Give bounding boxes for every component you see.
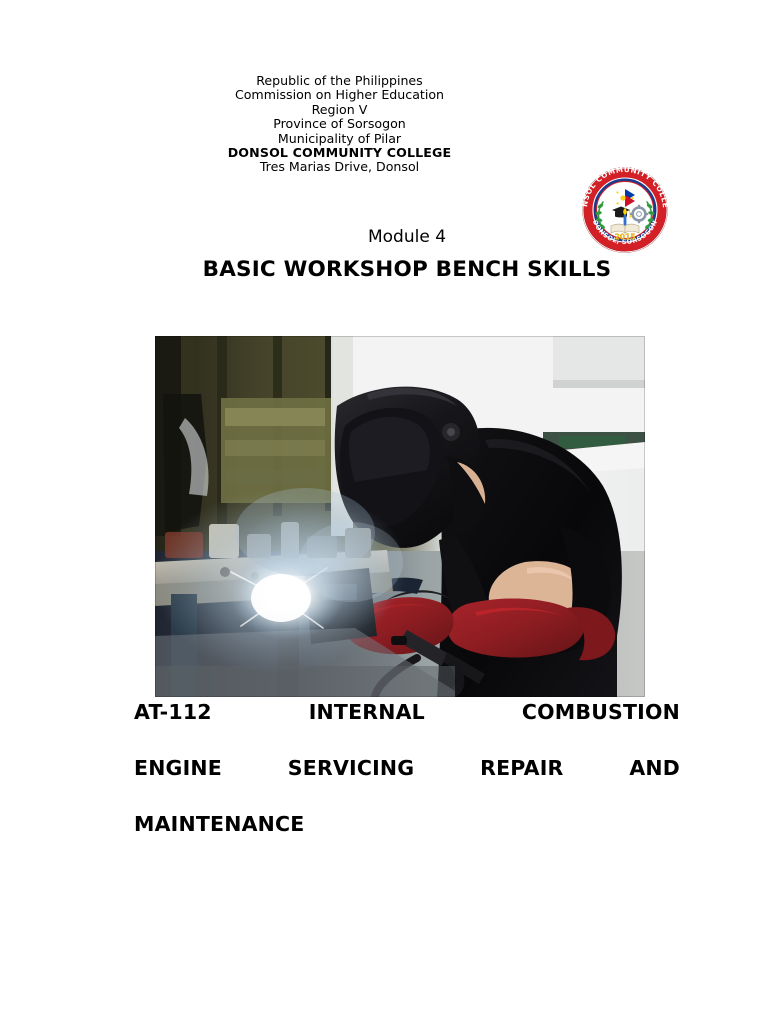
letterhead-line-region: Region V	[134, 103, 545, 117]
caption-line-2: ENGINE SERVICING REPAIR AND	[134, 754, 680, 810]
institution-name: DONSOL COMMUNITY COLLEGE	[134, 146, 545, 160]
document-page: Republic of the Philippines Commission o…	[0, 0, 768, 1024]
module-title: BASIC WORKSHOP BENCH SKILLS	[134, 254, 680, 286]
letterhead-line-ched: Commission on Higher Education	[134, 88, 545, 102]
welder-photo	[155, 336, 645, 697]
letterhead-line-province: Province of Sorsogon	[134, 117, 545, 131]
caption-line-3: MAINTENANCE	[134, 810, 680, 838]
module-label: Module 4	[134, 222, 680, 252]
course-code-caption: AT-112 INTERNAL COMBUSTION ENGINE SERVIC…	[134, 698, 680, 838]
letterhead-line-republic: Republic of the Philippines	[134, 74, 545, 88]
letterhead-line-municipality: Municipality of Pilar	[134, 132, 545, 146]
institution-address: Tres Marias Drive, Donsol	[134, 160, 545, 174]
caption-line-1: AT-112 INTERNAL COMBUSTION	[134, 698, 680, 754]
letterhead: Republic of the Philippines Commission o…	[0, 74, 768, 194]
letterhead-text-block: Republic of the Philippines Commission o…	[134, 74, 545, 175]
title-block: Module 4 BASIC WORKSHOP BENCH SKILLS	[134, 222, 680, 286]
